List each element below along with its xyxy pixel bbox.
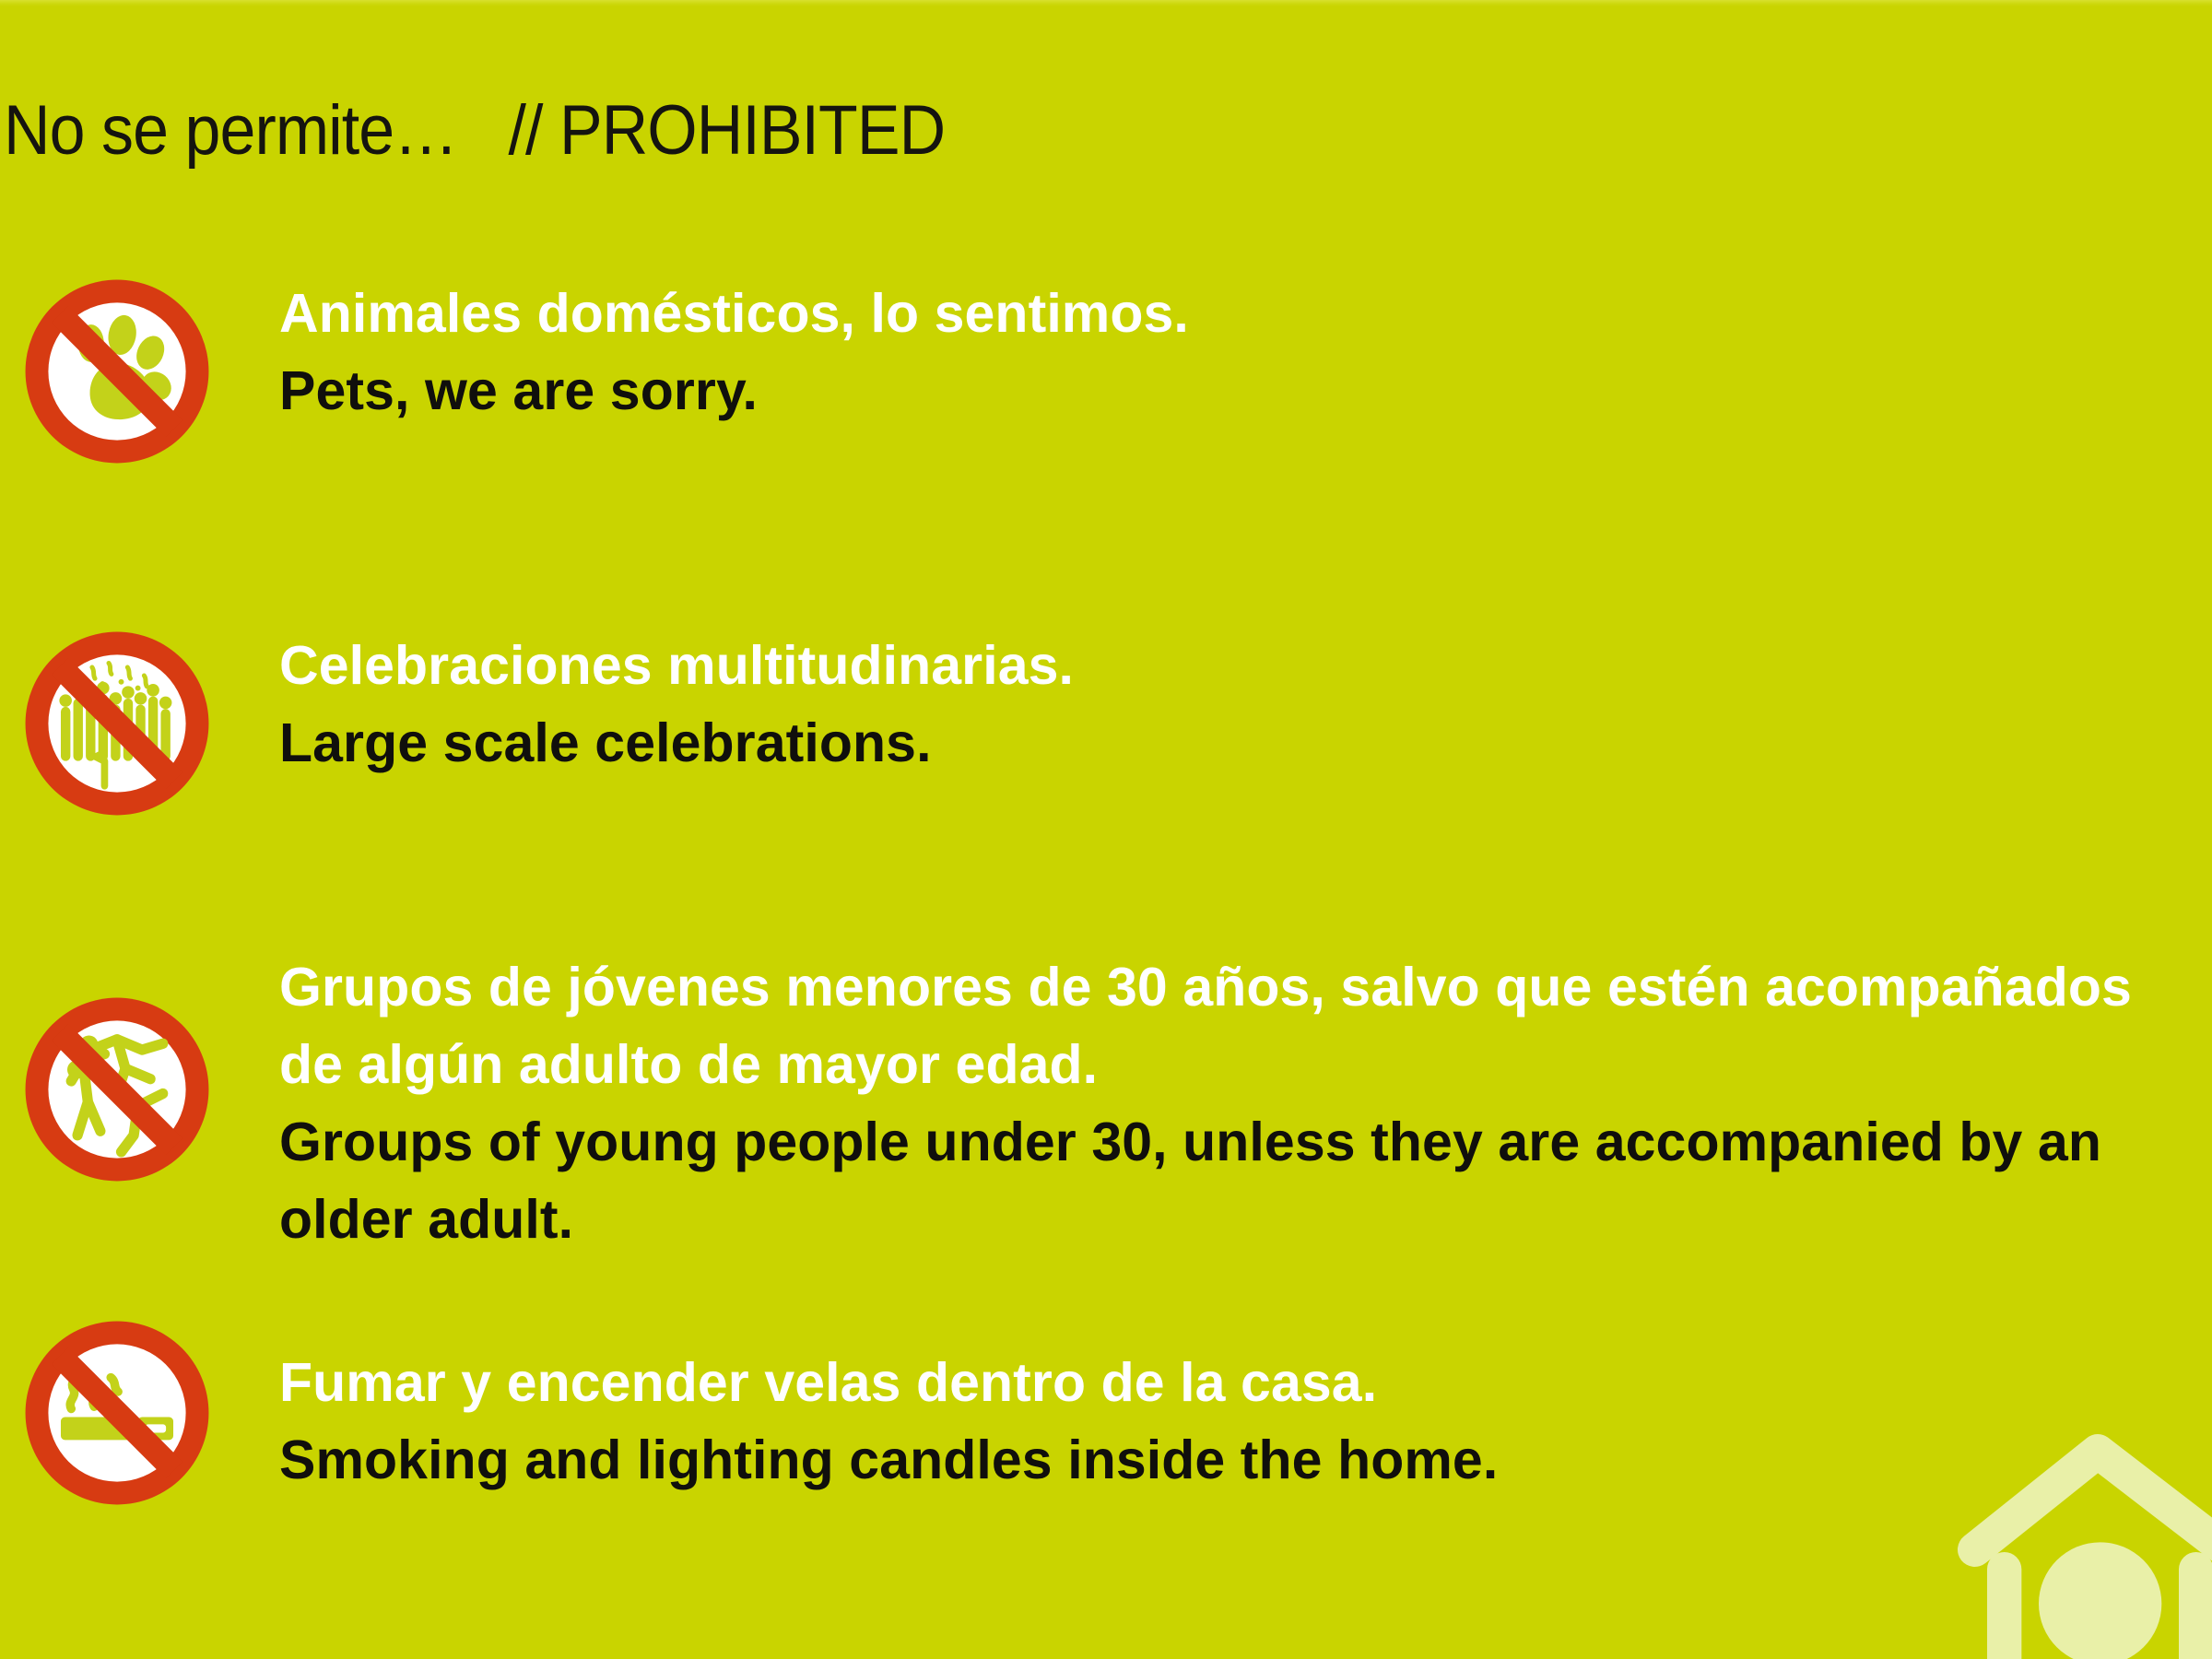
rule-line-spanish: de algún adulto de mayor edad. — [279, 1026, 2212, 1103]
page-title-spanish: No se permite… — [4, 91, 457, 170]
no-crowd-celebration-icon — [13, 619, 221, 828]
rule-line-spanish: Animales domésticos, lo sentimos. — [279, 275, 2212, 352]
no-pets-paw-icon — [13, 267, 221, 476]
page-title-english: PROHIBITED — [559, 91, 945, 170]
rule-text-pets: Animales domésticos, lo sentimos. Pets, … — [279, 275, 2212, 429]
page-title-separator: // — [508, 91, 559, 170]
no-smoking-candles-icon — [13, 1309, 221, 1517]
rule-line-spanish: Grupos de jóvenes menores de 30 años, sa… — [279, 948, 2212, 1026]
rule-line-spanish: Fumar y encender velas dentro de la casa… — [279, 1344, 2212, 1421]
house-with-circle-logo — [1950, 1421, 2212, 1659]
rule-line-english: Large scale celebrations. — [279, 704, 2212, 782]
top-edge-band — [0, 0, 2212, 6]
rule-text-young-groups: Grupos de jóvenes menores de 30 años, sa… — [279, 948, 2212, 1258]
rule-line-english: Groups of young people under 30, unless … — [279, 1103, 2212, 1181]
rule-text-smoking: Fumar y encender velas dentro de la casa… — [279, 1344, 2212, 1499]
no-young-people-partying-icon — [13, 985, 221, 1194]
rule-line-english: Smoking and lighting candles inside the … — [279, 1421, 2212, 1499]
rule-line-spanish: Celebraciones multitudinarias. — [279, 627, 2212, 704]
rule-line-english: older adult. — [279, 1181, 2212, 1258]
page-title: No se permite…// PROHIBITED — [4, 90, 945, 171]
rule-line-english: Pets, we are sorry. — [279, 352, 2212, 429]
rule-text-celebrations: Celebraciones multitudinarias. Large sca… — [279, 627, 2212, 782]
prohibited-rules-poster: No se permite…// PROHIBITED Animales dom… — [0, 0, 2212, 1659]
